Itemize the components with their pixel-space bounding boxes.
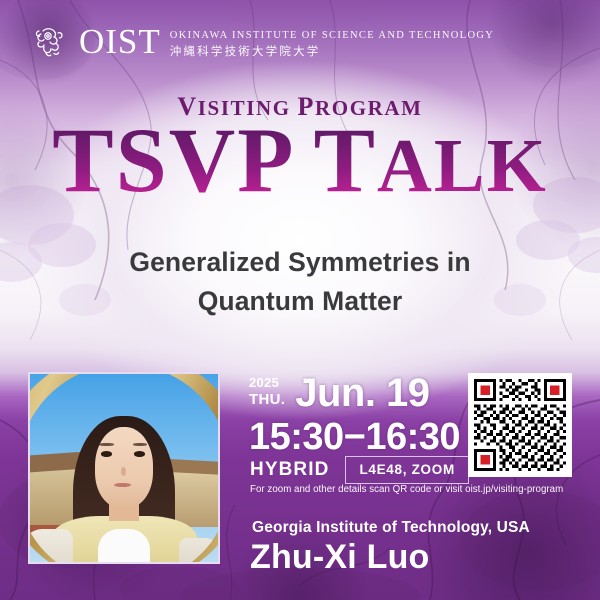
org-name-en: OKINAWA INSTITUTE OF SCIENCE AND TECHNOL… (170, 30, 494, 41)
photo-person-mouth (114, 483, 131, 487)
oist-branding-header: OIST OKINAWA INSTITUTE OF SCIENCE AND TE… (30, 22, 494, 62)
event-date: Jun. 19 (295, 374, 429, 412)
event-day-of-week: THU. (249, 392, 285, 407)
talk-title-line-2: Quantum Matter (60, 282, 540, 321)
photo-person-sleeve-left (28, 529, 73, 564)
org-name-jp: 沖縄科学技術大学院大学 (170, 43, 494, 59)
event-date-row: 2025 THU. Jun. 19 (249, 374, 430, 412)
talk-title-line-1: Generalized Symmetries in (60, 243, 540, 282)
speaker-photo (28, 372, 220, 564)
event-time: 15:30−16:30 (249, 418, 460, 456)
oist-wordmark: OIST (79, 25, 161, 58)
qr-code-icon[interactable] (468, 373, 572, 477)
photo-person-sleeve-right (179, 538, 220, 564)
event-mode: HYBRID (250, 459, 329, 481)
event-fineprint: For zoom and other details scan QR code … (250, 484, 563, 495)
photo-person-shirt (98, 529, 149, 564)
photo-arch-frame (28, 372, 220, 564)
speaker-affiliation: Georgia Institute of Technology, USA (252, 519, 530, 537)
page-title: TSVP TALK (0, 110, 600, 211)
event-year-dow: 2025 THU. (249, 376, 285, 412)
speaker-name: Zhu-Xi Luo (250, 538, 430, 576)
org-name-block: OKINAWA INSTITUTE OF SCIENCE AND TECHNOL… (170, 26, 494, 59)
talk-title: Generalized Symmetries in Quantum Matter (60, 243, 540, 321)
page-title-main: TSVP T (52, 109, 377, 211)
event-mode-row: HYBRID L4E48, ZOOM (250, 456, 469, 484)
page-title-rest: ALK (377, 124, 548, 208)
tsvp-talk-poster: OIST OKINAWA INSTITUTE OF SCIENCE AND TE… (0, 0, 600, 600)
event-year: 2025 (249, 376, 285, 389)
photo-person-eye-left (101, 451, 113, 457)
photo-arch-opening (28, 372, 220, 564)
oist-shisa-logo-icon (30, 22, 70, 62)
status-badge-venue: L4E48, ZOOM (345, 456, 468, 484)
photo-person-brow-left (99, 443, 114, 446)
photo-person-eye-right (134, 451, 146, 457)
